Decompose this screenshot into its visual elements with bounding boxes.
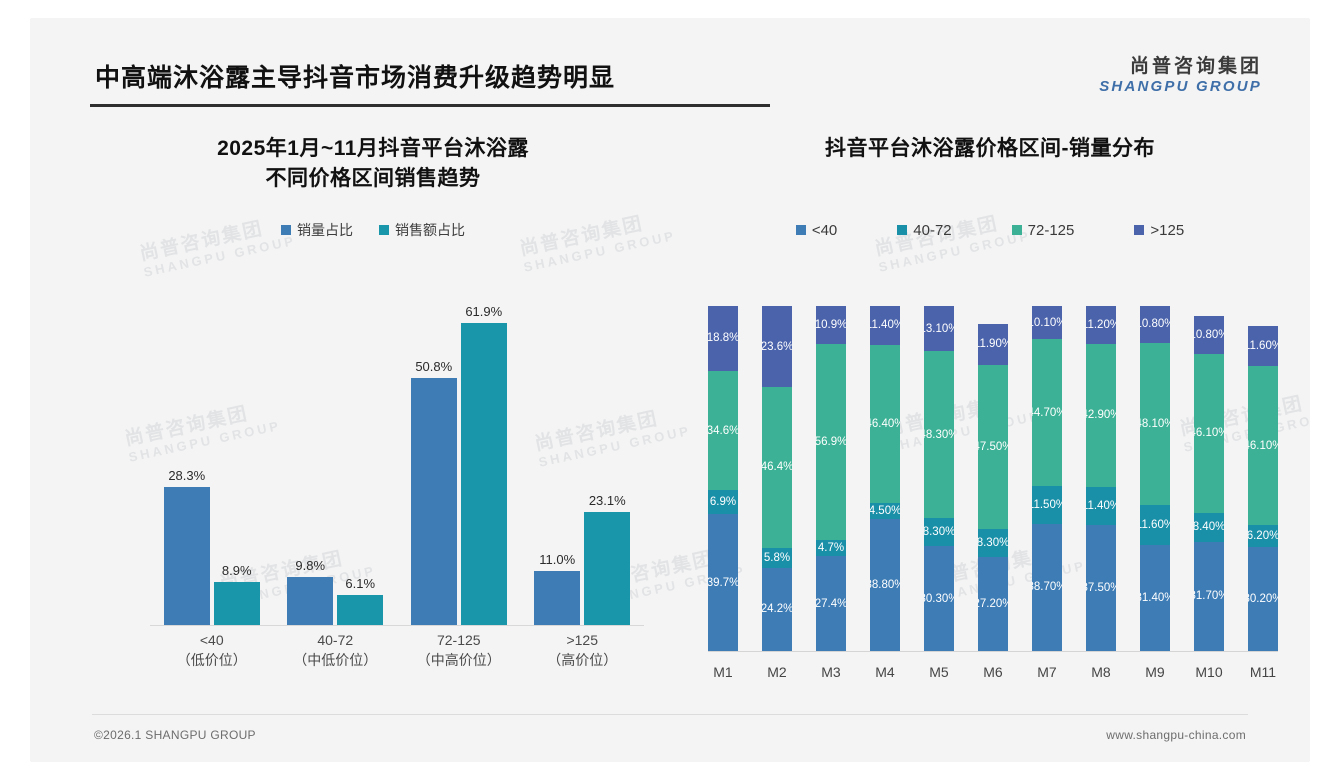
slide-footer: ©2026.1 SHANGPU GROUP www.shangpu-china.…: [30, 714, 1310, 762]
bar-value-label: 9.8%: [295, 558, 325, 573]
segment-value-label: 10.80%: [1140, 318, 1170, 330]
title-underline: [90, 104, 770, 107]
legend-label: 销售额占比: [395, 220, 465, 240]
stacked-bar-segment[interactable]: 46.10%: [1248, 366, 1278, 525]
stacked-bar-segment[interactable]: 27.4%: [816, 556, 846, 651]
segment-value-label: 11.50%: [1032, 499, 1062, 511]
x-axis-tick-label: M2: [762, 664, 792, 680]
segment-value-label: 46.10%: [1194, 427, 1224, 439]
stacked-bar[interactable]: 11.60%46.10%6.20%30.20%: [1248, 306, 1278, 651]
bar-group: 9.8%6.1%: [275, 284, 395, 625]
bar[interactable]: 8.9%: [214, 582, 260, 625]
left-chart-title-line1: 2025年1月~11月抖音平台沐浴露: [68, 134, 678, 164]
bar-value-label: 8.9%: [222, 563, 252, 578]
right-chart-legend-item[interactable]: 40-72: [897, 222, 951, 239]
bar[interactable]: 61.9%: [461, 323, 507, 625]
stacked-bar-segment[interactable]: 44.70%: [1032, 339, 1062, 486]
legend-swatch-icon: [796, 225, 806, 235]
stacked-bar[interactable]: 11.20%42.90%11.40%37.50%: [1086, 306, 1116, 651]
bar-fill: [337, 595, 383, 625]
bar-value-label: 50.8%: [415, 359, 452, 374]
slide-header: 中高端沐浴露主导抖音市场消费升级趋势明显 尚普咨询集团 SHANGPU GROU…: [30, 58, 1310, 112]
stacked-bar[interactable]: 10.10%44.70%11.50%38.70%: [1032, 306, 1062, 651]
stacked-bar-segment[interactable]: 6.9%: [708, 490, 738, 514]
x-axis-tick-label-main: <40: [152, 630, 272, 650]
bar-fill: [287, 577, 333, 625]
stacked-bar-segment[interactable]: 47.50%: [978, 365, 1008, 529]
right-chart-legend-item[interactable]: <40: [796, 222, 837, 239]
bar-group: 11.0%23.1%: [522, 284, 642, 625]
segment-value-label: 4.50%: [870, 505, 900, 517]
stacked-bar-segment[interactable]: 13.10%: [924, 306, 954, 351]
x-axis-tick-label: M4: [870, 664, 900, 680]
segment-value-label: 4.7%: [818, 542, 844, 554]
segment-value-label: 46.4%: [762, 461, 792, 473]
stacked-x-axis-labels: M1M2M3M4M5M6M7M8M9M10M11: [708, 656, 1278, 696]
segment-value-label: 6.9%: [710, 496, 736, 508]
segment-value-label: 27.20%: [978, 598, 1008, 610]
stacked-bar-segment[interactable]: 8.30%: [924, 518, 954, 547]
stacked-bar-segment[interactable]: 11.40%: [870, 306, 900, 345]
stacked-bar-segment[interactable]: 10.10%: [1032, 306, 1062, 339]
stacked-bar-segment[interactable]: 11.20%: [1086, 306, 1116, 344]
brand-name-cn: 尚普咨询集团: [1099, 56, 1262, 78]
x-axis-tick-label: M1: [708, 664, 738, 680]
bar[interactable]: 23.1%: [584, 512, 630, 625]
stacked-bar-segment[interactable]: 38.80%: [870, 519, 900, 651]
stacked-bar-segment[interactable]: 27.20%: [978, 557, 1008, 651]
stacked-bar-segment[interactable]: 42.90%: [1086, 344, 1116, 488]
stacked-bar-segment[interactable]: 11.60%: [1248, 326, 1278, 366]
stacked-bar-segment[interactable]: 31.40%: [1140, 545, 1170, 651]
segment-value-label: 8.30%: [978, 537, 1008, 549]
bar[interactable]: 6.1%: [337, 595, 383, 625]
stacked-bar-segment[interactable]: 6.20%: [1248, 525, 1278, 546]
segment-value-label: 38.80%: [870, 579, 900, 591]
segment-value-label: 6.20%: [1248, 530, 1278, 542]
x-axis-tick-label-sub: （中低价位）: [275, 650, 395, 670]
segment-value-label: 11.20%: [1086, 319, 1116, 331]
segment-value-label: 42.90%: [1086, 409, 1116, 421]
stacked-bar-segment[interactable]: 34.6%: [708, 371, 738, 490]
x-axis-tick-label: 40-72（中低价位）: [275, 630, 395, 684]
stacked-bar[interactable]: 11.90%47.50%8.30%27.20%: [978, 306, 1008, 651]
right-chart-panel: 抖音平台沐浴露价格区间-销量分布 <4040-7272-125>125 18.8…: [690, 134, 1290, 714]
left-chart-panel: 2025年1月~11月抖音平台沐浴露 不同价格区间销售趋势 销量占比销售额占比 …: [68, 134, 678, 714]
stacked-bar[interactable]: 23.6%46.4%5.8%24.2%: [762, 306, 792, 651]
left-chart-legend-item[interactable]: 销量占比: [281, 220, 353, 240]
x-axis-tick-label-main: 72-125: [399, 630, 519, 650]
x-axis-tick-label-main: >125: [522, 630, 642, 650]
grouped-bar-chart: 28.3%8.9%9.8%6.1%50.8%61.9%11.0%23.1% <4…: [78, 284, 668, 684]
x-axis-tick-label-sub: （低价位）: [152, 650, 272, 670]
stacked-bar[interactable]: 13.10%48.30%8.30%30.30%: [924, 306, 954, 651]
page-title: 中高端沐浴露主导抖音市场消费升级趋势明显: [95, 58, 615, 94]
slide-canvas: 尚普咨询集团 SHANGPU GROUP 尚普咨询集团 SHANGPU GROU…: [30, 18, 1310, 762]
segment-value-label: 48.30%: [924, 429, 954, 441]
stacked-bar-segment[interactable]: 11.50%: [1032, 486, 1062, 524]
stacked-bar-segment[interactable]: 39.7%: [708, 514, 738, 651]
x-axis-tick-label: M9: [1140, 664, 1170, 680]
segment-value-label: 11.40%: [870, 319, 900, 331]
stacked-bar-segment[interactable]: 23.6%: [762, 306, 792, 387]
stacked-bar-segment[interactable]: 56.9%: [816, 344, 846, 540]
stacked-plot-area: 18.8%34.6%6.9%39.7%23.6%46.4%5.8%24.2%10…: [708, 306, 1278, 652]
bar-value-label: 11.0%: [539, 552, 575, 567]
x-axis-tick-label: M7: [1032, 664, 1062, 680]
x-axis-tick-label-main: 40-72: [275, 630, 395, 650]
segment-value-label: 30.20%: [1248, 593, 1278, 605]
segment-value-label: 31.70%: [1194, 590, 1224, 602]
legend-label: <40: [812, 222, 837, 239]
segment-value-label: 30.30%: [924, 593, 954, 605]
segment-value-label: 24.2%: [762, 603, 792, 615]
stacked-bar-segment[interactable]: 10.80%: [1140, 306, 1170, 343]
bar-fill: [164, 487, 210, 625]
segment-value-label: 38.70%: [1032, 581, 1062, 593]
x-axis-tick-label: >125（高价位）: [522, 630, 642, 684]
stacked-bar-segment[interactable]: 38.70%: [1032, 524, 1062, 651]
segment-value-label: 10.9%: [816, 319, 846, 331]
legend-label: 40-72: [913, 222, 951, 239]
stacked-bar-segment[interactable]: 5.8%: [762, 548, 792, 568]
brand-logo: 尚普咨询集团 SHANGPU GROUP: [1099, 56, 1262, 96]
segment-value-label: 11.60%: [1248, 340, 1278, 352]
segment-value-label: 11.60%: [1140, 519, 1170, 531]
segment-value-label: 46.40%: [870, 418, 900, 430]
segment-value-label: 5.8%: [764, 552, 790, 564]
x-axis-tick-label-sub: （高价位）: [522, 650, 642, 670]
x-axis-tick-label: 72-125（中高价位）: [399, 630, 519, 684]
bar[interactable]: 28.3%: [164, 487, 210, 625]
stacked-bar-segment[interactable]: 11.60%: [1140, 505, 1170, 544]
segment-value-label: 56.9%: [816, 436, 846, 448]
bar[interactable]: 50.8%: [411, 378, 457, 625]
right-chart-legend: <4040-7272-125>125: [690, 222, 1290, 239]
left-chart-title-line2: 不同价格区间销售趋势: [68, 164, 678, 194]
segment-value-label: 11.40%: [1086, 500, 1116, 512]
stacked-bar-segment[interactable]: 48.10%: [1140, 343, 1170, 506]
segment-value-label: 10.80%: [1194, 329, 1224, 341]
stacked-bar-segment[interactable]: 30.30%: [924, 546, 954, 651]
stacked-bar[interactable]: 11.40%46.40%4.50%38.80%: [870, 306, 900, 651]
legend-swatch-icon: [897, 225, 907, 235]
segment-value-label: 31.40%: [1140, 592, 1170, 604]
segment-value-label: 44.70%: [1032, 407, 1062, 419]
stacked-bar-segment[interactable]: 10.9%: [816, 306, 846, 344]
brand-name-en: SHANGPU GROUP: [1099, 78, 1262, 96]
stacked-bar-segment[interactable]: 8.40%: [1194, 513, 1224, 542]
segment-value-label: 47.50%: [978, 441, 1008, 453]
segment-value-label: 8.40%: [1194, 521, 1224, 533]
legend-swatch-icon: [281, 225, 291, 235]
segment-value-label: 18.8%: [708, 332, 738, 344]
stacked-bar-segment[interactable]: 4.50%: [870, 503, 900, 518]
legend-label: 销量占比: [297, 220, 353, 240]
segment-value-label: 8.30%: [924, 526, 954, 538]
x-axis-tick-label: <40（低价位）: [152, 630, 272, 684]
footer-divider: [92, 714, 1248, 715]
segment-value-label: 37.50%: [1086, 582, 1116, 594]
bar[interactable]: 11.0%: [534, 571, 580, 625]
left-chart-legend: 销量占比销售额占比: [68, 220, 678, 240]
stacked-bar-chart: 18.8%34.6%6.9%39.7%23.6%46.4%5.8%24.2%10…: [698, 306, 1286, 696]
stacked-bar-segment[interactable]: 11.40%: [1086, 487, 1116, 525]
right-chart-legend-item[interactable]: >125: [1134, 222, 1184, 239]
legend-swatch-icon: [379, 225, 389, 235]
x-axis-tick-label: M3: [816, 664, 846, 680]
x-axis-tick-label: M11: [1248, 664, 1278, 680]
left-chart-title: 2025年1月~11月抖音平台沐浴露 不同价格区间销售趋势: [68, 134, 678, 194]
right-chart-legend-item[interactable]: 72-125: [1012, 222, 1075, 239]
right-chart-title: 抖音平台沐浴露价格区间-销量分布: [690, 134, 1290, 164]
x-axis-tick-label: M8: [1086, 664, 1116, 680]
stacked-bar-segment[interactable]: 10.80%: [1194, 316, 1224, 353]
segment-value-label: 23.6%: [762, 341, 792, 353]
bar-fill: [534, 571, 580, 625]
segment-value-label: 46.10%: [1248, 440, 1278, 452]
bar-value-label: 6.1%: [345, 576, 375, 591]
bar-group: 50.8%61.9%: [399, 284, 519, 625]
stacked-bar-segment[interactable]: 46.40%: [870, 345, 900, 503]
stacked-bar-segment[interactable]: 31.70%: [1194, 542, 1224, 651]
footer-copyright: ©2026.1 SHANGPU GROUP: [94, 728, 256, 742]
segment-value-label: 11.90%: [978, 338, 1008, 350]
bar[interactable]: 9.8%: [287, 577, 333, 625]
stacked-bar-segment[interactable]: 8.30%: [978, 529, 1008, 558]
legend-swatch-icon: [1012, 225, 1022, 235]
x-axis-tick-label: M10: [1194, 664, 1224, 680]
footer-website[interactable]: www.shangpu-china.com: [1106, 728, 1246, 742]
x-axis-tick-label: M6: [978, 664, 1008, 680]
bar-fill: [411, 378, 457, 625]
segment-value-label: 34.6%: [708, 425, 738, 437]
grouped-x-axis-labels: <40（低价位）40-72（中低价位）72-125（中高价位）>125（高价位）: [150, 630, 644, 684]
stacked-bar[interactable]: 10.80%46.10%8.40%31.70%: [1194, 306, 1224, 651]
segment-value-label: 39.7%: [708, 577, 738, 589]
stacked-bar-segment[interactable]: 46.10%: [1194, 354, 1224, 513]
legend-label: 72-125: [1028, 222, 1075, 239]
stacked-bar-segment[interactable]: 46.4%: [762, 387, 792, 547]
bar-value-label: 28.3%: [168, 468, 205, 483]
grouped-plot-area: 28.3%8.9%9.8%6.1%50.8%61.9%11.0%23.1%: [150, 284, 644, 626]
bar-fill: [214, 582, 260, 625]
bar-group: 28.3%8.9%: [152, 284, 272, 625]
x-axis-tick-label-sub: （中高价位）: [399, 650, 519, 670]
stacked-bar-segment[interactable]: 37.50%: [1086, 525, 1116, 651]
left-chart-legend-item[interactable]: 销售额占比: [379, 220, 465, 240]
bar-value-label: 61.9%: [465, 304, 502, 319]
segment-value-label: 10.10%: [1032, 317, 1062, 329]
stacked-bar-segment[interactable]: 4.7%: [816, 540, 846, 556]
segment-value-label: 48.10%: [1140, 418, 1170, 430]
bar-fill: [461, 323, 507, 625]
stacked-bar[interactable]: 10.80%48.10%11.60%31.40%: [1140, 306, 1170, 651]
segment-value-label: 13.10%: [924, 323, 954, 335]
stacked-bar-segment[interactable]: 24.2%: [762, 568, 792, 651]
bar-value-label: 23.1%: [589, 493, 626, 508]
legend-label: >125: [1150, 222, 1184, 239]
stacked-bar-segment[interactable]: 18.8%: [708, 306, 738, 371]
segment-value-label: 27.4%: [816, 598, 846, 610]
x-axis-tick-label: M5: [924, 664, 954, 680]
stacked-bar-segment[interactable]: 30.20%: [1248, 547, 1278, 651]
bar-fill: [584, 512, 630, 625]
stacked-bar-segment[interactable]: 48.30%: [924, 351, 954, 518]
stacked-bar[interactable]: 10.9%56.9%4.7%27.4%: [816, 306, 846, 651]
legend-swatch-icon: [1134, 225, 1144, 235]
stacked-bar[interactable]: 18.8%34.6%6.9%39.7%: [708, 306, 738, 651]
stacked-bar-segment[interactable]: 11.90%: [978, 324, 1008, 365]
